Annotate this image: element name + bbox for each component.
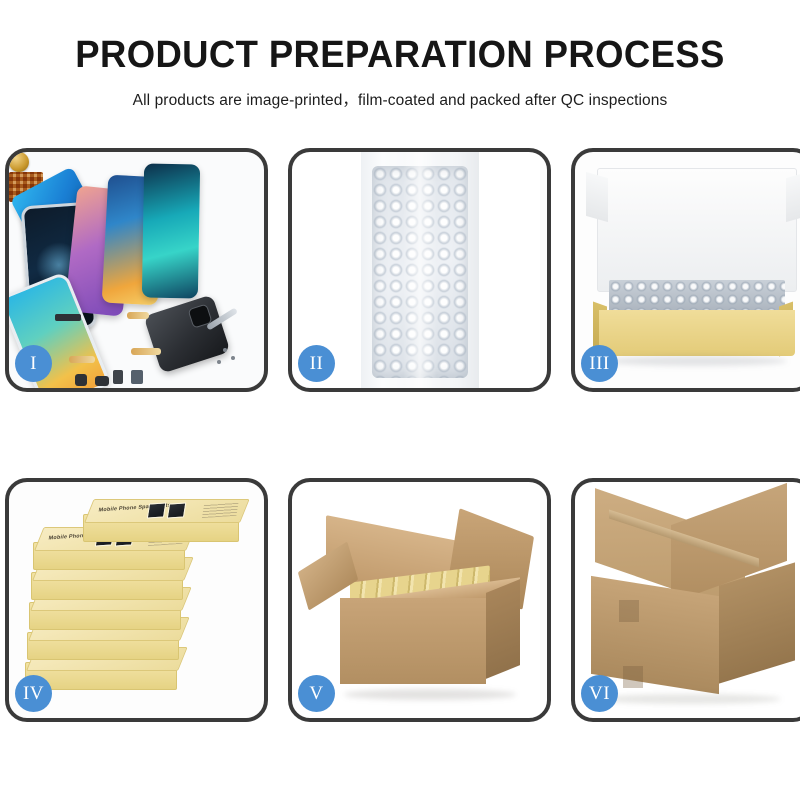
flex-cable-icon: [69, 356, 95, 363]
flex-cable-icon: [127, 312, 149, 319]
retail-box: [29, 602, 181, 630]
small-component-icon: [95, 376, 109, 386]
drop-shadow: [344, 689, 516, 700]
carton-front-panel: [340, 598, 486, 684]
screw-icon: [223, 348, 227, 352]
carton-front-panel: [591, 576, 719, 694]
plastic-sheen: [403, 152, 437, 388]
process-step-panel-4: Mobile Phone Spare Parts Mobile Phone Sp…: [5, 478, 268, 722]
retail-box: [27, 632, 179, 660]
screw-icon: [231, 356, 235, 360]
retail-box-lid: Mobile Phone Spare Parts: [84, 499, 250, 523]
carton-side-panel: [486, 579, 520, 679]
step-badge-6: VI: [581, 675, 618, 712]
retail-box-top: Mobile Phone Spare Parts: [33, 542, 185, 570]
flex-cable-icon: [131, 348, 161, 355]
process-step-panel-5: V: [288, 478, 551, 722]
carton-patch: [623, 666, 643, 688]
page-title: PRODUCT PREPARATION PROCESS: [16, 36, 784, 76]
header: PRODUCT PREPARATION PROCESS All products…: [0, 0, 800, 110]
mailer-lid-icon: [597, 168, 797, 292]
small-component-icon: [75, 374, 87, 386]
box-stack: Mobile Phone Spare Parts Mobile Phone Sp…: [21, 498, 251, 708]
process-step-panel-3: III: [571, 148, 800, 392]
product-preparation-infographic: PRODUCT PREPARATION PROCESS All products…: [0, 0, 800, 800]
box-window-icon: [167, 502, 187, 518]
step-badge-3: III: [581, 345, 618, 382]
bubble-wrapped-contents-icon: [609, 280, 785, 314]
step-badge-2: II: [298, 345, 335, 382]
battery-connector-icon: [55, 314, 81, 321]
process-step-panel-1: I: [5, 148, 268, 392]
small-component-icon: [131, 370, 143, 384]
mailer-front-panel: [599, 310, 795, 356]
speaker-module-icon: [9, 152, 29, 172]
page-subtitle: All products are image-printed，film-coat…: [0, 88, 800, 110]
process-steps-grid: I II III: [5, 148, 795, 722]
step-badge-1: I: [15, 345, 52, 382]
phone-teal-icon: [142, 164, 200, 299]
process-step-panel-6: VI: [571, 478, 800, 722]
box-window-icon: [147, 502, 167, 518]
small-component-icon: [113, 370, 123, 384]
screw-icon: [217, 360, 221, 364]
drop-shadow: [605, 356, 787, 366]
drop-shadow: [599, 694, 781, 704]
step-badge-5: V: [298, 675, 335, 712]
carton-patch: [619, 600, 639, 622]
retail-box-front: Mobile Phone Spare Parts: [83, 514, 239, 542]
box-spec-lines: [202, 502, 239, 518]
step-badge-4: IV: [15, 675, 52, 712]
process-step-panel-2: II: [288, 148, 551, 392]
retail-box: [31, 572, 183, 600]
